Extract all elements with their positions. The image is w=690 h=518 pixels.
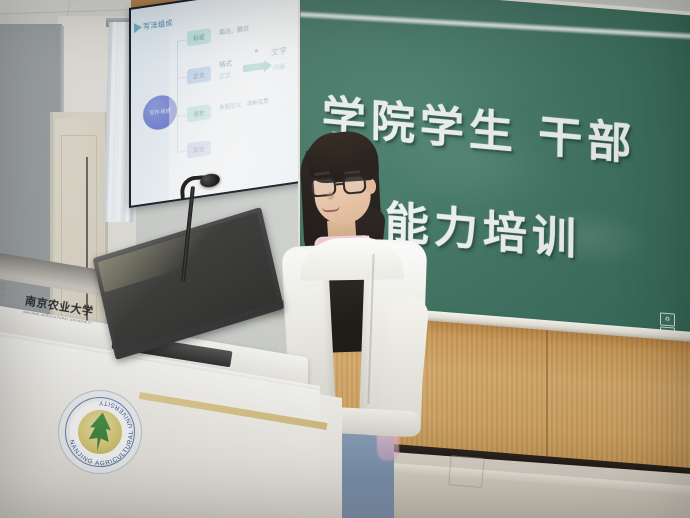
- connector: [177, 41, 178, 153]
- lectern-brand-label: SEWO: [0, 280, 6, 306]
- mindmap-branch-1: 标题: [187, 28, 211, 47]
- seal-ring-text: NANJING AGRICULTURAL UNIVERSITY: [53, 386, 147, 480]
- jacket-pocket: [448, 455, 484, 488]
- slide-text-2: 格式: [219, 57, 232, 69]
- slide-separator-dot: [255, 49, 258, 52]
- connector: [177, 77, 187, 79]
- board-sign-recycle-icon: ♻: [660, 312, 675, 326]
- slide-arrow-icon: [243, 62, 265, 72]
- svg-text:NANJING AGRICULTURAL UNIVERSIT: NANJING AGRICULTURAL UNIVERSITY: [65, 395, 140, 472]
- glasses-lens-right: [342, 174, 367, 195]
- mindmap-branch-4: 其他: [187, 140, 211, 159]
- slide-title: 写法组成: [143, 18, 173, 32]
- slide-bullet-arrow-icon: [134, 22, 142, 33]
- mindmap-center-node: 写作 组成: [143, 93, 177, 132]
- slide-text-5: 内容: [273, 61, 285, 72]
- connector: [177, 40, 187, 42]
- mindmap-branch-2: 正文: [187, 66, 211, 85]
- mindmap-branch-3: 落款: [187, 104, 211, 123]
- slide-text-3: 正式: [219, 70, 231, 81]
- wainscot-seam: [546, 330, 548, 470]
- connector: [177, 151, 187, 153]
- classroom-photo: 写法组成 写作 组成 标题 正文 落款 其他 简洁、醒目 格式 正式 文字 内容…: [0, 0, 690, 518]
- university-seal: NANJING AGRICULTURAL UNIVERSITY: [53, 385, 148, 480]
- slide-text-4: 文字: [271, 45, 287, 58]
- connector: [177, 115, 187, 117]
- slide-text-1: 简洁、醒目: [219, 23, 249, 36]
- slide-text-6: 多图层次、清晰连贯: [219, 97, 269, 112]
